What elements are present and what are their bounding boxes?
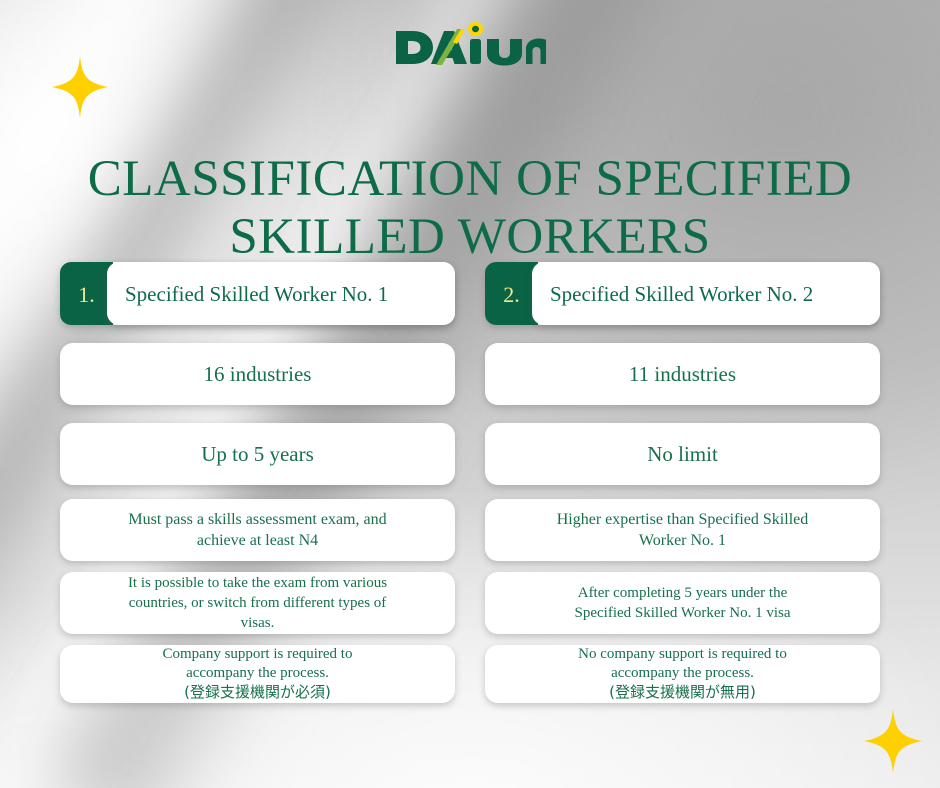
column-2-row-1[interactable]: 11 industries — [485, 343, 880, 405]
comparison-columns: 1. Specified Skilled Worker No. 1 16 ind… — [0, 262, 940, 703]
column-1-row-5-japanese: (登録支援機関が必須) — [184, 683, 331, 701]
column-2-row-5-wrap: No company support is required to accomp… — [501, 645, 864, 703]
column-1-row-5-wrap: Company support is required to accompany… — [76, 645, 439, 703]
column-2-row-3-text: Higher expertise than Specified Skilled … — [501, 509, 864, 551]
brand-logo — [0, 22, 940, 71]
sparkle-icon — [864, 708, 922, 774]
column-2-row-5-text: No company support is required to accomp… — [578, 646, 787, 681]
column-2-row-1-text: 11 industries — [501, 361, 864, 388]
column-2-row-4[interactable]: After completing 5 years under the Speci… — [485, 572, 880, 634]
column-2-heading: Specified Skilled Worker No. 2 — [532, 262, 880, 325]
column-1-row-1-text: 16 industries — [76, 361, 439, 388]
column-1-row-5-text: Company support is required to accompany… — [163, 646, 353, 681]
column-2-row-3[interactable]: Higher expertise than Specified Skilled … — [485, 499, 880, 561]
column-1-heading: Specified Skilled Worker No. 1 — [107, 262, 455, 325]
column-1-row-3-text: Must pass a skills assessment exam, and … — [76, 509, 439, 551]
daiun-logo-icon — [394, 22, 546, 66]
column-2-row-2[interactable]: No limit — [485, 423, 880, 485]
column-1-row-3[interactable]: Must pass a skills assessment exam, and … — [60, 499, 455, 561]
column-1-row-2[interactable]: Up to 5 years — [60, 423, 455, 485]
column-1-row-5[interactable]: Company support is required to accompany… — [60, 645, 455, 703]
column-1-row-2-text: Up to 5 years — [76, 441, 439, 468]
column-2-number-badge: 2. — [485, 262, 538, 325]
column-1-number-badge: 1. — [60, 262, 113, 325]
column-1-row-4[interactable]: It is possible to take the exam from var… — [60, 572, 455, 634]
column-1-row-1[interactable]: 16 industries — [60, 343, 455, 405]
column-specified-skilled-worker-1: 1. Specified Skilled Worker No. 1 16 ind… — [60, 262, 455, 703]
column-1-header[interactable]: 1. Specified Skilled Worker No. 1 — [60, 262, 455, 325]
column-1-row-4-text: It is possible to take the exam from var… — [76, 573, 439, 633]
column-2-row-2-text: No limit — [501, 441, 864, 468]
page-title: CLASSIFICATION OF SPECIFIED SKILLED WORK… — [0, 150, 940, 266]
column-specified-skilled-worker-2: 2. Specified Skilled Worker No. 2 11 ind… — [485, 262, 880, 703]
column-2-row-5[interactable]: No company support is required to accomp… — [485, 645, 880, 703]
column-2-row-4-text: After completing 5 years under the Speci… — [501, 583, 864, 623]
column-2-header[interactable]: 2. Specified Skilled Worker No. 2 — [485, 262, 880, 325]
poster-canvas: CLASSIFICATION OF SPECIFIED SKILLED WORK… — [0, 0, 940, 788]
column-2-row-5-japanese: (登録支援機関が無用) — [609, 683, 756, 701]
